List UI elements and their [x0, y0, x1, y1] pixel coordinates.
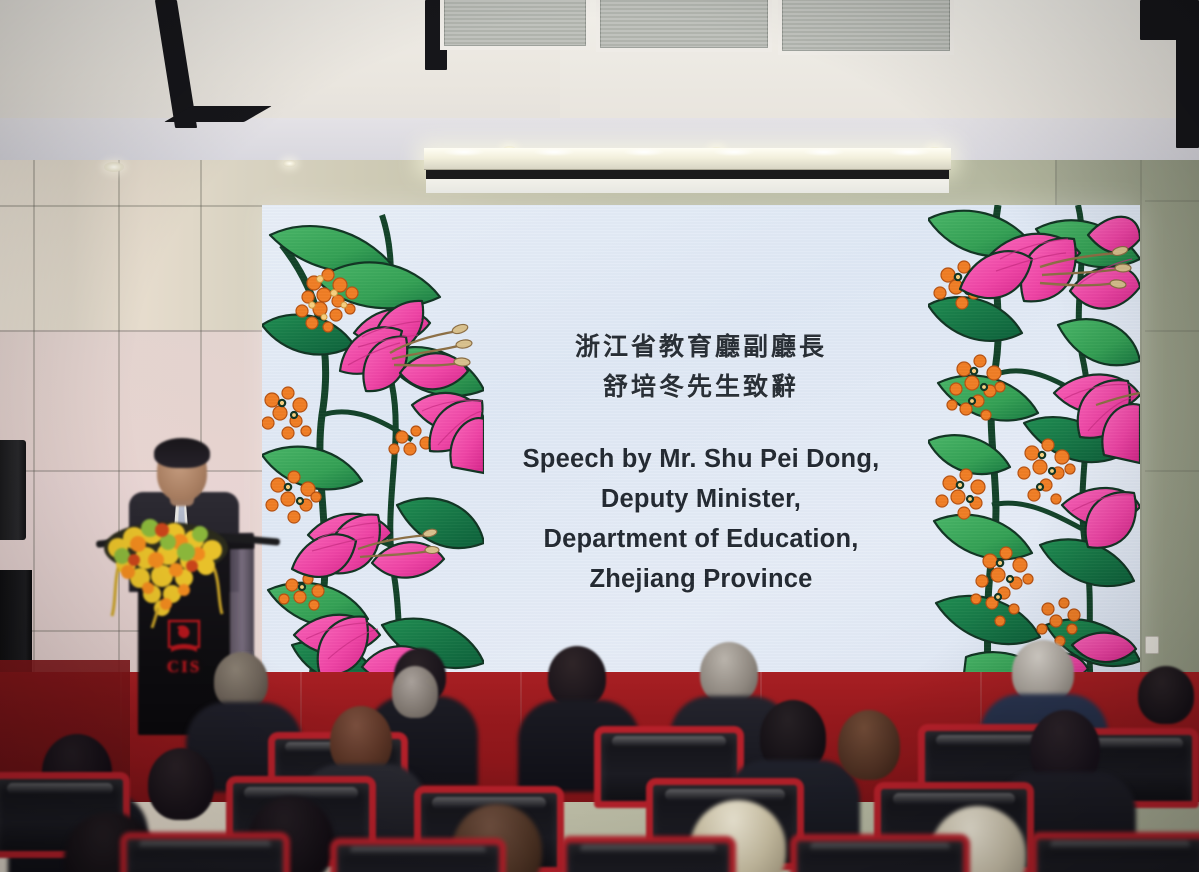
screen-housing-shadow	[426, 170, 949, 179]
slide-chinese-line-1: 浙江省教育廳副廳長	[262, 327, 1140, 367]
slide-chinese-line-2: 舒培冬先生致辭	[262, 367, 1140, 407]
audience-head	[838, 710, 900, 780]
audience-chair	[560, 836, 736, 872]
ceiling-slot-right	[1140, 0, 1199, 40]
audience-head	[700, 642, 758, 704]
screen-light-bar	[424, 148, 951, 170]
screen-housing	[426, 179, 949, 193]
audience-chair	[1030, 832, 1199, 872]
audience-head	[148, 748, 214, 820]
wall-speaker-box	[0, 440, 26, 540]
slide-english-line-2: Deputy Minister,	[262, 479, 1140, 519]
ceiling-vent-grille	[440, 0, 590, 50]
ceiling-vent-grille	[778, 0, 954, 55]
slide-english-line-1: Speech by Mr. Shu Pei Dong,	[262, 439, 1140, 479]
downlight	[283, 160, 296, 167]
slide-english-line-4: Zhejiang Province	[262, 559, 1140, 599]
downlight	[104, 162, 124, 172]
speaker-hair	[154, 438, 210, 468]
slide-english-line-3: Department of Education,	[262, 519, 1140, 559]
slide-text-block: 浙江省教育廳副廳長 舒培冬先生致辭 Speech by Mr. Shu Pei …	[262, 327, 1140, 599]
podium-flower-arrangement	[88, 508, 248, 628]
audience-chair	[120, 832, 290, 872]
audience-chair	[790, 834, 970, 872]
audience-chair	[330, 838, 506, 872]
ceiling-slot-right2	[1176, 38, 1199, 148]
audience-area	[0, 636, 1199, 872]
audience-head	[1138, 666, 1194, 724]
ceiling-vent-grille	[596, 0, 772, 52]
audience-head	[392, 666, 438, 718]
conference-hall-photo: 浙江省教育廳副廳長 舒培冬先生致辭 Speech by Mr. Shu Pei …	[0, 0, 1199, 872]
audience-head	[548, 646, 606, 708]
led-presentation-screen: 浙江省教育廳副廳長 舒培冬先生致辭 Speech by Mr. Shu Pei …	[262, 205, 1140, 690]
